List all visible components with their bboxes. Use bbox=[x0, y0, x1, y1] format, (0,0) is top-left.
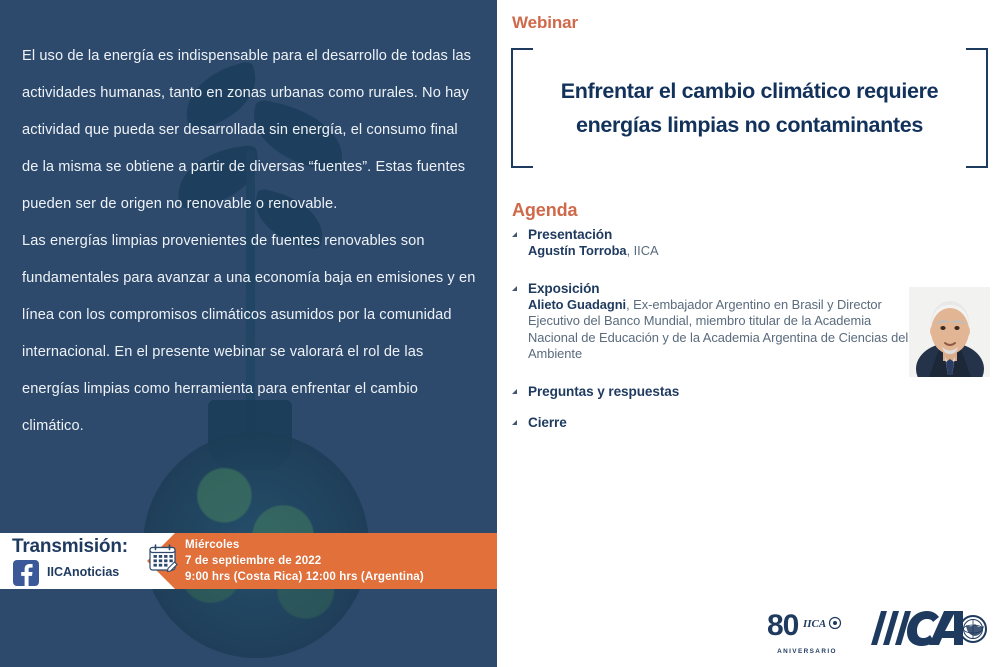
webinar-kicker: Webinar bbox=[512, 13, 578, 33]
svg-text:80: 80 bbox=[767, 609, 799, 642]
agenda-item-presentacion: Presentación Agustín Torroba, IICA bbox=[512, 226, 912, 260]
agenda-item-detail: Agustín Torroba, IICA bbox=[528, 243, 912, 260]
speaker-name: Agustín Torroba bbox=[528, 243, 627, 258]
triangle-bullet-icon bbox=[512, 286, 517, 291]
bracket-right-icon bbox=[966, 48, 988, 168]
agenda-item-label: Presentación bbox=[528, 226, 912, 243]
agenda-item-label: Cierre bbox=[528, 414, 912, 431]
agenda-item-label: Exposición bbox=[528, 280, 912, 297]
page-title: Enfrentar el cambio climático requiere e… bbox=[537, 74, 962, 142]
webinar-poster: El uso de la energía es indispensable pa… bbox=[0, 0, 1000, 667]
triangle-bullet-icon bbox=[512, 389, 517, 394]
right-agenda-panel: Webinar Enfrentar el cambio climático re… bbox=[497, 0, 1000, 667]
speaker-affiliation: , IICA bbox=[627, 243, 659, 258]
triangle-bullet-icon bbox=[512, 232, 517, 237]
anniversary-logo: 80 IICA ANIVERSARIO bbox=[765, 605, 849, 655]
svg-text:IICA: IICA bbox=[802, 618, 826, 630]
calendar-icon bbox=[148, 543, 178, 573]
agenda-item-detail: Alieto Guadagni, Ex-embajador Argentino … bbox=[528, 297, 912, 363]
anniversary-caption: ANIVERSARIO bbox=[765, 648, 849, 655]
description-paragraph: Las energías limpias provenientes de fue… bbox=[22, 223, 477, 445]
transmission-title: Transmisión: bbox=[12, 536, 128, 558]
facebook-icon[interactable] bbox=[13, 560, 39, 586]
description-text: El uso de la energía es indispensable pa… bbox=[22, 38, 477, 445]
agenda-item-cierre: Cierre bbox=[512, 414, 912, 431]
transmission-datetime: Miércoles 7 de septiembre de 2022 9:00 h… bbox=[185, 537, 424, 584]
agenda-item-label: Preguntas y respuestas bbox=[528, 383, 912, 400]
description-paragraph: El uso de la energía es indispensable pa… bbox=[22, 38, 477, 223]
transmission-times: 9:00 hrs (Costa Rica) 12:00 hrs (Argenti… bbox=[185, 569, 424, 585]
agenda-list: Presentación Agustín Torroba, IICA Expos… bbox=[512, 226, 912, 431]
speaker-portrait bbox=[909, 287, 990, 377]
agenda-item-exposicion: Exposición Alieto Guadagni, Ex-embajador… bbox=[512, 280, 912, 363]
transmission-day: Miércoles bbox=[185, 537, 424, 553]
transmission-date: 7 de septiembre de 2022 bbox=[185, 553, 424, 569]
triangle-bullet-icon bbox=[512, 420, 517, 425]
speaker-name: Alieto Guadagni bbox=[528, 297, 626, 312]
agenda-item-preguntas: Preguntas y respuestas bbox=[512, 383, 912, 400]
bracket-left-icon bbox=[511, 48, 533, 168]
left-description-panel: El uso de la energía es indispensable pa… bbox=[0, 0, 497, 667]
iica-logo bbox=[865, 605, 987, 651]
title-frame: Enfrentar el cambio climático requiere e… bbox=[511, 48, 988, 168]
facebook-handle[interactable]: IICAnoticias bbox=[47, 565, 119, 579]
agenda-heading: Agenda bbox=[512, 200, 577, 221]
